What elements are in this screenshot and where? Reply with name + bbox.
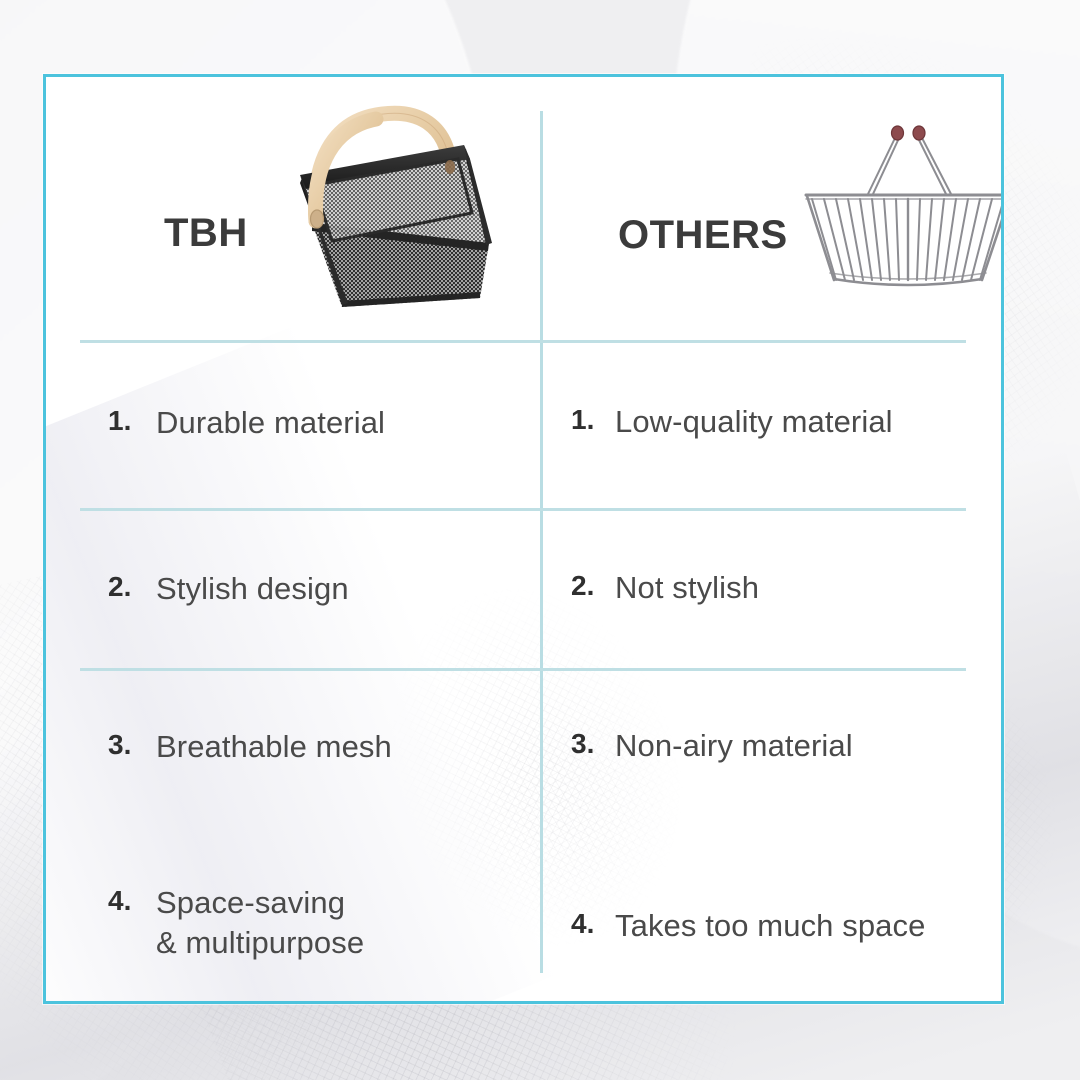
mesh-basket-icon	[284, 93, 514, 323]
wire-basket-icon	[801, 109, 1001, 299]
column-header-others: OTHERS	[543, 77, 1001, 340]
list-item: 4. Space-saving & multipurpose	[108, 883, 528, 964]
list-item: 4. Takes too much space	[571, 906, 991, 946]
list-item: 1. Durable material	[108, 403, 528, 443]
list-item-label: Not stylish	[615, 568, 759, 608]
list-item: 3. Breathable mesh	[108, 727, 528, 767]
column-header-tbh: TBH	[46, 77, 540, 340]
list-item: 2. Not stylish	[571, 568, 991, 608]
row-divider	[80, 668, 966, 671]
list-item-label: Non-airy material	[615, 726, 853, 766]
list-item-number: 1.	[108, 403, 156, 438]
list-item-number: 3.	[571, 726, 615, 761]
list-item-label: Durable material	[156, 403, 385, 443]
row-divider	[80, 508, 966, 511]
list-item-label: Stylish design	[156, 569, 349, 609]
list-item-number: 4.	[108, 883, 156, 918]
list-item-number: 2.	[571, 568, 615, 603]
list-item: 3. Non-airy material	[571, 726, 991, 766]
list-item-label: Low-quality material	[615, 402, 893, 442]
others-heading: OTHERS	[618, 213, 788, 258]
list-item-number: 2.	[108, 569, 156, 604]
tbh-heading: TBH	[164, 211, 248, 256]
header-row: TBH	[46, 77, 1001, 340]
comparison-card: TBH	[43, 74, 1004, 1004]
list-item-label: Takes too much space	[615, 906, 925, 946]
list-item: 1. Low-quality material	[571, 402, 991, 442]
list-item-label: Breathable mesh	[156, 727, 392, 767]
list-item-number: 4.	[571, 906, 615, 941]
row-divider	[80, 340, 966, 343]
list-item-label: Space-saving & multipurpose	[156, 883, 364, 964]
list-item-number: 3.	[108, 727, 156, 762]
list-item-number: 1.	[571, 402, 615, 437]
list-item: 2. Stylish design	[108, 569, 528, 609]
